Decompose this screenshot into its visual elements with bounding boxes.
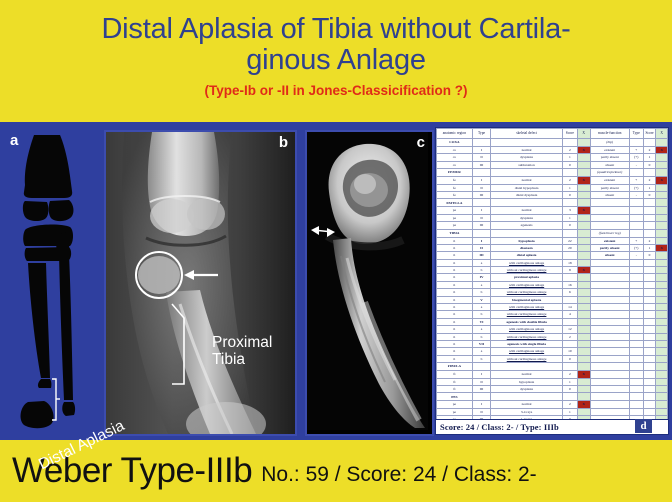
cell-muscle [590,207,629,214]
cell-x-skeletal[interactable] [577,154,590,161]
group-defect [491,169,563,177]
group-muscle-subheader [590,199,629,207]
radiograph-image [106,132,295,434]
cell-type: III [472,161,490,168]
cell-region: co [437,154,473,161]
panel-a-bone-schematic: a [4,130,104,432]
cell-muscle-score [643,214,656,221]
table-row[interactable]: coInormal2Xexistent+2X [437,147,668,154]
cell-x-muscle[interactable] [656,214,668,221]
group-type [472,139,490,147]
table-body: COXA(hip)coInormal2Xexistent+2XcoIIdyspl… [437,139,668,433]
cell-type: I [472,237,490,244]
cell-type: I [472,147,490,154]
group-muscle-subheader [590,393,629,401]
cell-x-muscle[interactable]: X [656,244,668,251]
table-row[interactable]: tibwithout cartilaginous anlage8X [437,267,668,274]
cell-muscle [590,355,629,362]
cell-region: ti [437,289,473,296]
table-row[interactable]: paInormal3X [437,207,668,214]
cell-muscle-score [643,355,656,362]
cell-defect: hypoplasia [491,237,563,244]
cell-muscle: existent [590,237,629,244]
col-x-skeletal: X [577,129,590,139]
cell-x-skeletal[interactable]: X [577,177,590,184]
cell-type: b [472,333,490,340]
table-row[interactable]: feInormal2Xexistent+2X [437,177,668,184]
cell-x-muscle[interactable] [656,296,668,303]
cell-muscle-score [643,281,656,288]
cell-score: 6 [562,289,577,296]
cell-region: pa [437,214,473,221]
cell-score: 1 [562,184,577,191]
cell-x-skeletal[interactable] [577,378,590,385]
table-row[interactable]: feIIdistal hypoplasia1partly absent(+)1 [437,184,668,191]
cell-muscle-type: (+) [629,244,643,251]
table-row[interactable]: tiIVproximal aplasia [437,274,668,281]
group-muscle-x [656,169,668,177]
cell-region: ti [437,244,473,251]
table-row[interactable]: tiIhypoplasia22existent+2 [437,237,668,244]
cell-defect: agenesis with single fibula [491,340,563,347]
cell-x-skeletal[interactable] [577,214,590,221]
table-row[interactable]: paIIIagenesis0 [437,222,668,229]
group-x [577,393,590,401]
group-muscle-type [629,393,643,401]
cell-region: fi [437,385,473,392]
cell-x-muscle[interactable]: X [656,147,668,154]
page-title: Distal Aplasia of Tibia without Cartila-… [16,14,656,76]
table-row[interactable]: tiVIagenesis with double fibula [437,318,668,325]
cell-muscle [590,289,629,296]
cell-defect: normal [491,207,563,214]
cell-x-muscle[interactable] [656,318,668,325]
col-score: Score [562,129,577,139]
banner-main-text: Weber Type-IIIb [12,451,252,491]
cell-score: 0 [562,355,577,362]
cell-muscle [590,326,629,333]
cell-muscle-type [629,326,643,333]
cell-muscle-score [643,274,656,281]
cell-x-skeletal[interactable] [577,274,590,281]
cell-muscle-score: 0 [643,161,656,168]
group-muscle-subheader: (quadriceps/knee) [590,169,629,177]
cell-x-muscle[interactable] [656,207,668,214]
cell-defect: without cartilaginous anlage [491,289,563,296]
cell-region: fi [437,371,473,378]
cell-defect: agenesis with double fibula [491,318,563,325]
cell-x-skeletal[interactable] [577,244,590,251]
cell-score: 18 [562,259,577,266]
cell-score: 0 [562,191,577,198]
group-score [562,139,577,147]
slide-body: a [0,122,672,440]
group-muscle-x [656,199,668,207]
table-row[interactable]: tiIIIdistal aplasiaabsent-0 [437,252,668,259]
group-muscle-type [629,199,643,207]
cell-defect: without cartilaginous anlage [491,311,563,318]
cell-x-skeletal[interactable] [577,304,590,311]
table-row[interactable]: tiIIdiastasis20partly absent(+)1X [437,244,668,251]
group-x [577,229,590,237]
cell-muscle [590,348,629,355]
cell-defect: distal hypoplasia [491,184,563,191]
cell-x-muscle[interactable] [656,326,668,333]
cell-defect: without cartilaginous anlage [491,267,563,274]
cell-muscle-score: 1 [643,154,656,161]
table-row[interactable]: peII3-4 rays1 [437,408,668,415]
cell-region: ti [437,252,473,259]
cell-region: ti [437,281,473,288]
cell-x-muscle[interactable] [656,355,668,362]
cell-muscle-type [629,207,643,214]
cell-x-muscle[interactable] [656,191,668,198]
cell-score: 1 [562,408,577,415]
col-muscle-type: Type [629,129,643,139]
cell-score [562,340,577,347]
cell-x-skeletal[interactable] [577,237,590,244]
cell-x-skeletal[interactable] [577,161,590,168]
cell-x-muscle[interactable] [656,378,668,385]
cell-defect: dysplasia [491,385,563,392]
cell-muscle-type [629,401,643,408]
cell-score: 16 [562,281,577,288]
cell-x-skeletal[interactable] [577,408,590,415]
cell-x-muscle[interactable] [656,371,668,378]
cell-muscle-type [629,289,643,296]
cell-muscle-score [643,408,656,415]
cell-score: 3 [562,207,577,214]
group-name: COXA [437,139,473,147]
cell-score: 1 [562,214,577,221]
cell-defect: normal [491,401,563,408]
cell-x-skeletal[interactable] [577,333,590,340]
cell-muscle-type: + [629,237,643,244]
cell-muscle-type [629,281,643,288]
slide: Distal Aplasia of Tibia without Cartila-… [0,0,672,502]
cell-x-skeletal[interactable] [577,355,590,362]
cell-region: ti [437,348,473,355]
panel-c-label: c [417,134,425,151]
cell-region: ti [437,237,473,244]
table-row[interactable]: tibwithout cartilaginous anlage0 [437,355,668,362]
cell-muscle [590,371,629,378]
group-muscle-x [656,229,668,237]
col-type: Type [472,129,490,139]
cell-x-muscle[interactable] [656,252,668,259]
cell-type: II [472,408,490,415]
group-muscle-score [643,393,656,401]
cell-x-muscle[interactable] [656,333,668,340]
cell-muscle-type [629,311,643,318]
cell-x-muscle[interactable] [656,281,668,288]
cell-region: pe [437,408,473,415]
banner-details-text: No.: 59 / Score: 24 / Class: 2- [261,463,536,487]
cell-x-skeletal[interactable] [577,326,590,333]
cell-muscle [590,408,629,415]
group-x [577,169,590,177]
cell-x-skeletal[interactable] [577,222,590,229]
cell-defect: distal aplasia [491,252,563,259]
cell-defect: with cartilaginous anlage [491,304,563,311]
table-row[interactable]: tiawith cartilaginous anlage10 [437,348,668,355]
cell-muscle: existent [590,147,629,154]
table-group-row: COXA(hip) [437,139,668,147]
cell-x-muscle[interactable] [656,222,668,229]
cell-muscle-type: + [629,177,643,184]
cell-x-skeletal[interactable] [577,289,590,296]
cell-defect: with cartilaginous anlage [491,281,563,288]
cell-defect: distal dysplasia [491,191,563,198]
cell-x-muscle[interactable] [656,385,668,392]
group-type [472,199,490,207]
group-muscle-score [643,169,656,177]
table-row[interactable]: coIIdysplasia1partly absent(+)1 [437,154,668,161]
cell-score: 2 [562,371,577,378]
cell-muscle [590,274,629,281]
cell-region: pa [437,207,473,214]
cell-x-skeletal[interactable] [577,311,590,318]
group-score [562,363,577,371]
cell-muscle: existent [590,177,629,184]
cell-defect: without cartilaginous anlage [491,333,563,340]
cell-muscle [590,296,629,303]
cell-x-muscle[interactable] [656,161,668,168]
cell-defect: with cartilaginous anlage [491,326,563,333]
cell-type: I [472,207,490,214]
cell-region: ti [437,311,473,318]
table-group-row: PATELLA [437,199,668,207]
cell-x-skeletal[interactable] [577,296,590,303]
cell-x-skeletal[interactable] [577,340,590,347]
cell-region: fi [437,378,473,385]
cell-defect: with cartilaginous anlage [491,259,563,266]
cell-score: 20 [562,244,577,251]
cell-defect: subluxation [491,161,563,168]
cell-muscle-score [643,348,656,355]
panel-a-label: a [10,132,18,149]
cell-x-skeletal[interactable]: X [577,147,590,154]
group-score [562,393,577,401]
group-defect [491,199,563,207]
panel-d-classification-table: anatomic region Type skeletal defect Sco… [435,127,669,435]
cell-score: 1 [562,378,577,385]
table-row[interactable]: paIIdysplasia1 [437,214,668,221]
cell-defect: diastasis [491,244,563,251]
cell-defect: bisegmental aplasia [491,296,563,303]
table-summary-text: Score: 24 / Class: 2- / Type: IIIb [436,422,559,432]
cell-type: II [472,214,490,221]
cell-defect: dysplasia [491,154,563,161]
group-muscle-subheader: (foot/lower leg) [590,229,629,237]
cell-type: a [472,304,490,311]
cell-x-skeletal[interactable] [577,184,590,191]
group-score [562,169,577,177]
cell-x-muscle[interactable] [656,267,668,274]
cell-muscle-type [629,385,643,392]
cell-score: 1 [562,154,577,161]
cell-muscle-type: + [629,147,643,154]
cell-score: 22 [562,237,577,244]
cell-score: 8 [562,267,577,274]
slide-header: Distal Aplasia of Tibia without Cartila-… [0,0,672,122]
table-header-row: anatomic region Type skeletal defect Sco… [437,129,668,139]
group-type [472,393,490,401]
group-name: PATELLA [437,199,473,207]
cell-region: fe [437,184,473,191]
table-row[interactable]: coIIIsubluxation0absent-0 [437,161,668,168]
table-row[interactable]: tibwithout cartilaginous anlage2 [437,333,668,340]
cell-type: II [472,378,490,385]
classification-table: anatomic region Type skeletal defect Sco… [436,128,668,433]
table-row[interactable]: tiVIIagenesis with single fibula [437,340,668,347]
cell-region: ti [437,274,473,281]
cell-type: I [472,371,490,378]
cell-muscle [590,281,629,288]
cell-type: a [472,348,490,355]
group-muscle-score [643,363,656,371]
cell-score [562,274,577,281]
cell-muscle: partly absent [590,154,629,161]
cell-x-skeletal[interactable] [577,259,590,266]
cell-muscle-score [643,222,656,229]
table-row[interactable]: fiIIhypoplasia1 [437,378,668,385]
cell-x-muscle[interactable] [656,348,668,355]
group-muscle-subheader: (hip) [590,139,629,147]
cell-score: 2 [562,147,577,154]
cell-muscle-type [629,348,643,355]
table-row[interactable]: peInormal2X [437,401,668,408]
group-x [577,199,590,207]
cell-x-muscle[interactable] [656,401,668,408]
table-row[interactable]: fiInormal2X [437,371,668,378]
cell-x-skeletal[interactable]: X [577,401,590,408]
col-muscle-function: muscle-function [590,129,629,139]
cell-x-muscle[interactable] [656,408,668,415]
cell-x-muscle[interactable] [656,154,668,161]
cell-x-skeletal[interactable]: X [577,267,590,274]
cell-muscle-type [629,318,643,325]
cell-score [562,252,577,259]
cell-muscle-type [629,340,643,347]
cell-score [562,296,577,303]
cell-x-skeletal[interactable]: X [577,371,590,378]
cell-x-muscle[interactable] [656,289,668,296]
cell-score: 2 [562,177,577,184]
cell-muscle [590,378,629,385]
cell-x-muscle[interactable] [656,259,668,266]
cell-type: I [472,401,490,408]
table-row[interactable]: tibwithout cartilaginous anlage4 [437,311,668,318]
cell-score: 0 [562,385,577,392]
cell-region: ti [437,355,473,362]
cell-x-skeletal[interactable] [577,385,590,392]
col-x-muscle: X [656,129,668,139]
cell-type: IV [472,274,490,281]
cell-type: II [472,244,490,251]
cell-x-muscle[interactable] [656,311,668,318]
cell-muscle-type [629,214,643,221]
cell-region: ti [437,333,473,340]
cell-x-muscle[interactable] [656,304,668,311]
table-header: anatomic region Type skeletal defect Sco… [437,129,668,139]
table-summary-bar: Score: 24 / Class: 2- / Type: IIIb [436,419,668,434]
cell-muscle-score [643,304,656,311]
cell-x-muscle[interactable] [656,340,668,347]
cell-muscle-score: 2 [643,177,656,184]
cell-muscle-type [629,355,643,362]
cell-x-skeletal[interactable] [577,252,590,259]
cell-defect: normal [491,177,563,184]
table-row[interactable]: tiawith cartilaginous anlage16 [437,281,668,288]
cell-type: VII [472,340,490,347]
table-row[interactable]: feIIIdistal dysplasia0absent-0 [437,191,668,198]
table-row[interactable]: tibwithout cartilaginous anlage6 [437,289,668,296]
cell-muscle-score [643,207,656,214]
table-row[interactable]: tiVbisegmental aplasia [437,296,668,303]
table-row[interactable]: tiawith cartilaginous anlage12 [437,326,668,333]
cell-x-skeletal[interactable]: X [577,207,590,214]
cell-muscle-score: 1 [643,184,656,191]
cell-type: III [472,252,490,259]
cell-muscle-type [629,333,643,340]
cell-x-skeletal[interactable] [577,318,590,325]
cell-muscle-type [629,378,643,385]
cell-muscle [590,259,629,266]
cell-x-muscle[interactable] [656,184,668,191]
panel-b-radiograph: b [104,130,297,436]
cell-type: a [472,259,490,266]
cell-x-muscle[interactable] [656,237,668,244]
table-row[interactable]: tiawith cartilaginous anlage14 [437,304,668,311]
cell-score: 0 [562,222,577,229]
cell-x-skeletal[interactable] [577,191,590,198]
cell-score: 10 [562,348,577,355]
cell-muscle-score: 2 [643,147,656,154]
cell-defect: normal [491,147,563,154]
bone-schematic-drawing [4,130,104,432]
group-muscle-type [629,139,643,147]
cell-type: III [472,222,490,229]
group-muscle-type [629,229,643,237]
cell-muscle: absent [590,161,629,168]
cell-muscle [590,267,629,274]
group-muscle-score [643,229,656,237]
cell-muscle [590,385,629,392]
cell-x-muscle[interactable] [656,274,668,281]
cell-muscle-score [643,296,656,303]
group-muscle-type [629,169,643,177]
cell-x-muscle[interactable]: X [656,177,668,184]
page-subtitle: (Type-Ib or -II in Jones-Classicificatio… [204,83,467,98]
table-row[interactable]: tiawith cartilaginous anlage18 [437,259,668,266]
table-row[interactable]: fiIIIdysplasia0 [437,385,668,392]
cell-x-skeletal[interactable] [577,348,590,355]
cell-muscle-type [629,274,643,281]
group-name: TIBIA [437,229,473,237]
group-muscle-type [629,363,643,371]
cell-defect: normal [491,371,563,378]
group-type [472,169,490,177]
cell-muscle-score [643,340,656,347]
cell-type: b [472,311,490,318]
cell-muscle [590,222,629,229]
cell-muscle-score [643,311,656,318]
cell-muscle: partly absent [590,244,629,251]
cell-x-skeletal[interactable] [577,281,590,288]
cell-type: II [472,184,490,191]
cell-type: III [472,191,490,198]
